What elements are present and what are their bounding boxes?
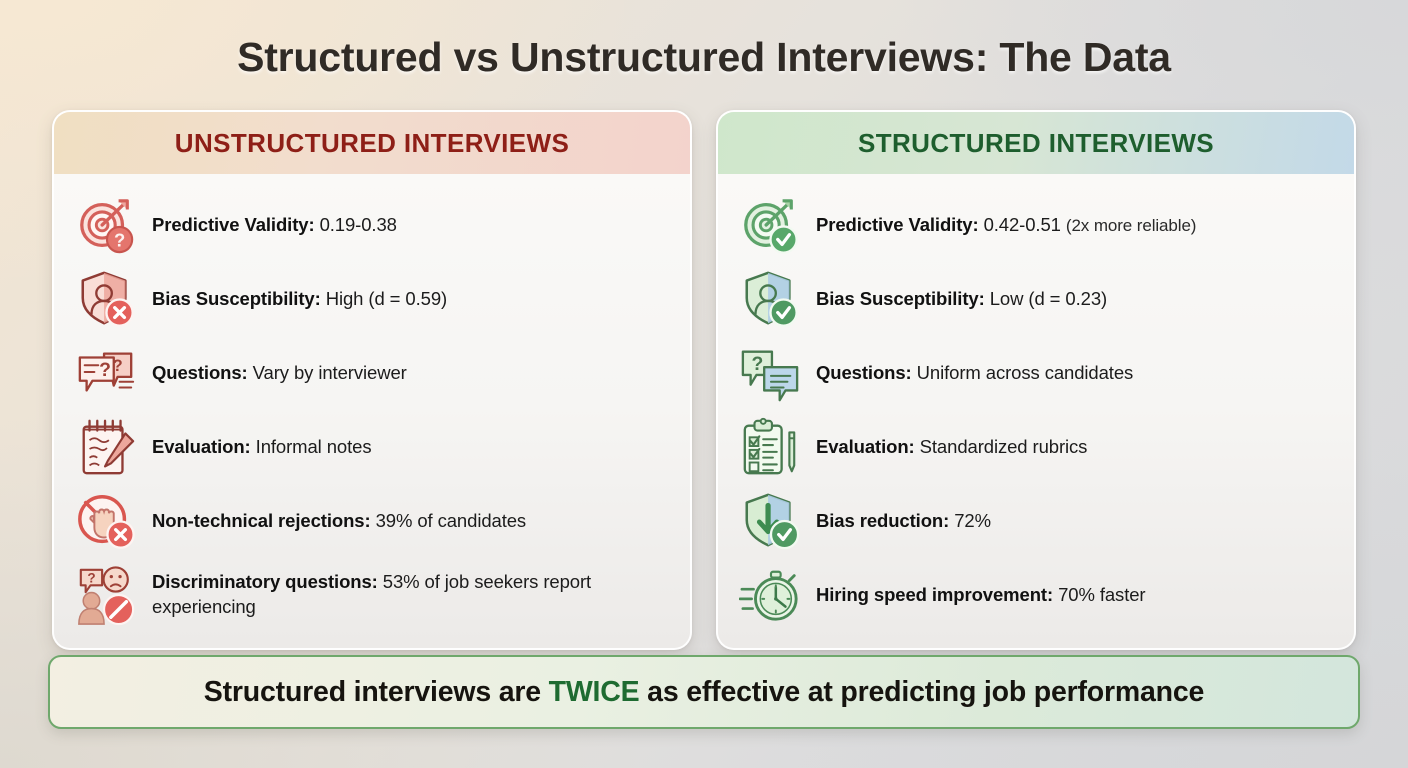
shield-person-check-icon	[738, 267, 802, 331]
row-label: Hiring speed improvement:	[816, 584, 1053, 605]
row-text-bias-reduction: Bias reduction: 72%	[816, 509, 991, 534]
row-text-discriminatory-questions: Discriminatory questions: 53% of job see…	[152, 570, 670, 620]
row-value: 72%	[954, 510, 991, 531]
row-questions: ? ? Questions: Vary by interviewer	[74, 336, 670, 410]
panel-structured-header: STRUCTURED INTERVIEWS	[718, 112, 1354, 174]
row-label: Bias Susceptibility:	[816, 288, 985, 309]
speech-bubbles-question-icon: ? ?	[74, 341, 138, 405]
row-label: Bias reduction:	[816, 510, 949, 531]
row-non-technical-rejections: Non-technical rejections: 39% of candida…	[74, 484, 670, 558]
row-value: Vary by interviewer	[253, 362, 407, 383]
row-text-predictive-validity: Predictive Validity: 0.42-0.51 (2x more …	[816, 213, 1196, 238]
notepad-pencil-icon	[74, 415, 138, 479]
svg-text:?: ?	[751, 353, 763, 375]
row-value: 0.19-0.38	[320, 214, 397, 235]
panel-structured: STRUCTURED INTERVIEWS	[716, 110, 1356, 650]
stop-hand-x-icon	[74, 489, 138, 553]
row-label: Discriminatory questions:	[152, 571, 378, 592]
row-label: Non-technical rejections:	[152, 510, 371, 531]
panel-unstructured-rows: ? Predictive Validity: 0.19-0.38	[54, 174, 690, 648]
row-value: 39% of candidates	[376, 510, 527, 531]
panel-unstructured: UNSTRUCTURED INTERVIEWS ?	[52, 110, 692, 650]
panel-unstructured-header: UNSTRUCTURED INTERVIEWS	[54, 112, 690, 174]
row-text-bias-susceptibility: Bias Susceptibility: Low (d = 0.23)	[816, 287, 1107, 312]
infographic-page: Structured vs Unstructured Interviews: T…	[0, 0, 1408, 768]
shield-person-x-icon	[74, 267, 138, 331]
row-note: (2x more reliable)	[1066, 216, 1196, 235]
comparison-panels: UNSTRUCTURED INTERVIEWS ?	[52, 110, 1356, 650]
row-label: Evaluation:	[816, 436, 915, 457]
clipboard-checklist-pencil-icon	[738, 415, 802, 479]
row-text-questions: Questions: Vary by interviewer	[152, 361, 407, 386]
page-title: Structured vs Unstructured Interviews: T…	[0, 34, 1408, 81]
row-label: Evaluation:	[152, 436, 251, 457]
panel-structured-rows: Predictive Validity: 0.42-0.51 (2x more …	[718, 174, 1354, 648]
row-label: Bias Susceptibility:	[152, 288, 321, 309]
row-text-questions: Questions: Uniform across candidates	[816, 361, 1133, 386]
row-predictive-validity: ? Predictive Validity: 0.19-0.38	[74, 188, 670, 262]
panel-unstructured-title: UNSTRUCTURED INTERVIEWS	[175, 128, 569, 159]
row-text-non-technical-rejections: Non-technical rejections: 39% of candida…	[152, 509, 526, 534]
row-predictive-validity: Predictive Validity: 0.42-0.51 (2x more …	[738, 188, 1334, 262]
row-text-predictive-validity: Predictive Validity: 0.19-0.38	[152, 213, 397, 238]
row-evaluation: Evaluation: Informal notes	[74, 410, 670, 484]
banner-highlight: TWICE	[549, 676, 640, 708]
row-value: 0.42-0.51	[984, 214, 1061, 235]
row-value: Uniform across candidates	[917, 362, 1134, 383]
stopwatch-icon	[738, 563, 802, 627]
row-bias-susceptibility: Bias Susceptibility: High (d = 0.59)	[74, 262, 670, 336]
conclusion-banner-text: Structured interviews are TWICE as effec…	[204, 676, 1204, 709]
banner-prefix: Structured interviews are	[204, 676, 549, 708]
row-label: Predictive Validity:	[816, 214, 979, 235]
target-check-icon	[738, 193, 802, 257]
speech-bubbles-question-icon: ?	[738, 341, 802, 405]
conclusion-banner: Structured interviews are TWICE as effec…	[48, 655, 1360, 729]
row-bias-reduction: Bias reduction: 72%	[738, 484, 1334, 558]
row-text-bias-susceptibility: Bias Susceptibility: High (d = 0.59)	[152, 287, 447, 312]
shield-arrow-down-check-icon	[738, 489, 802, 553]
row-discriminatory-questions: ? Discriminatory questions:	[74, 558, 670, 632]
row-value: 70% faster	[1058, 584, 1145, 605]
row-value: Informal notes	[256, 436, 372, 457]
row-label: Predictive Validity:	[152, 214, 315, 235]
svg-text:?: ?	[87, 570, 95, 585]
svg-text:?: ?	[114, 229, 125, 250]
row-text-evaluation: Evaluation: Standardized rubrics	[816, 435, 1087, 460]
banner-suffix: as effective at predicting job performan…	[639, 676, 1204, 708]
row-hiring-speed-improvement: Hiring speed improvement: 70% faster	[738, 558, 1334, 632]
row-text-hiring-speed-improvement: Hiring speed improvement: 70% faster	[816, 583, 1146, 608]
row-text-evaluation: Evaluation: Informal notes	[152, 435, 371, 460]
row-label: Questions:	[816, 362, 912, 383]
row-questions: ? Questions: Uniform across candidates	[738, 336, 1334, 410]
row-value: Standardized rubrics	[920, 436, 1088, 457]
target-question-icon: ?	[74, 193, 138, 257]
row-bias-susceptibility: Bias Susceptibility: Low (d = 0.23)	[738, 262, 1334, 336]
row-evaluation: Evaluation: Standardized rubrics	[738, 410, 1334, 484]
svg-text:?: ?	[99, 359, 111, 381]
panel-structured-title: STRUCTURED INTERVIEWS	[858, 128, 1214, 159]
row-value: Low (d = 0.23)	[990, 288, 1107, 309]
row-label: Questions:	[152, 362, 248, 383]
row-value: High (d = 0.59)	[326, 288, 447, 309]
person-question-prohibited-icon: ?	[74, 563, 138, 627]
